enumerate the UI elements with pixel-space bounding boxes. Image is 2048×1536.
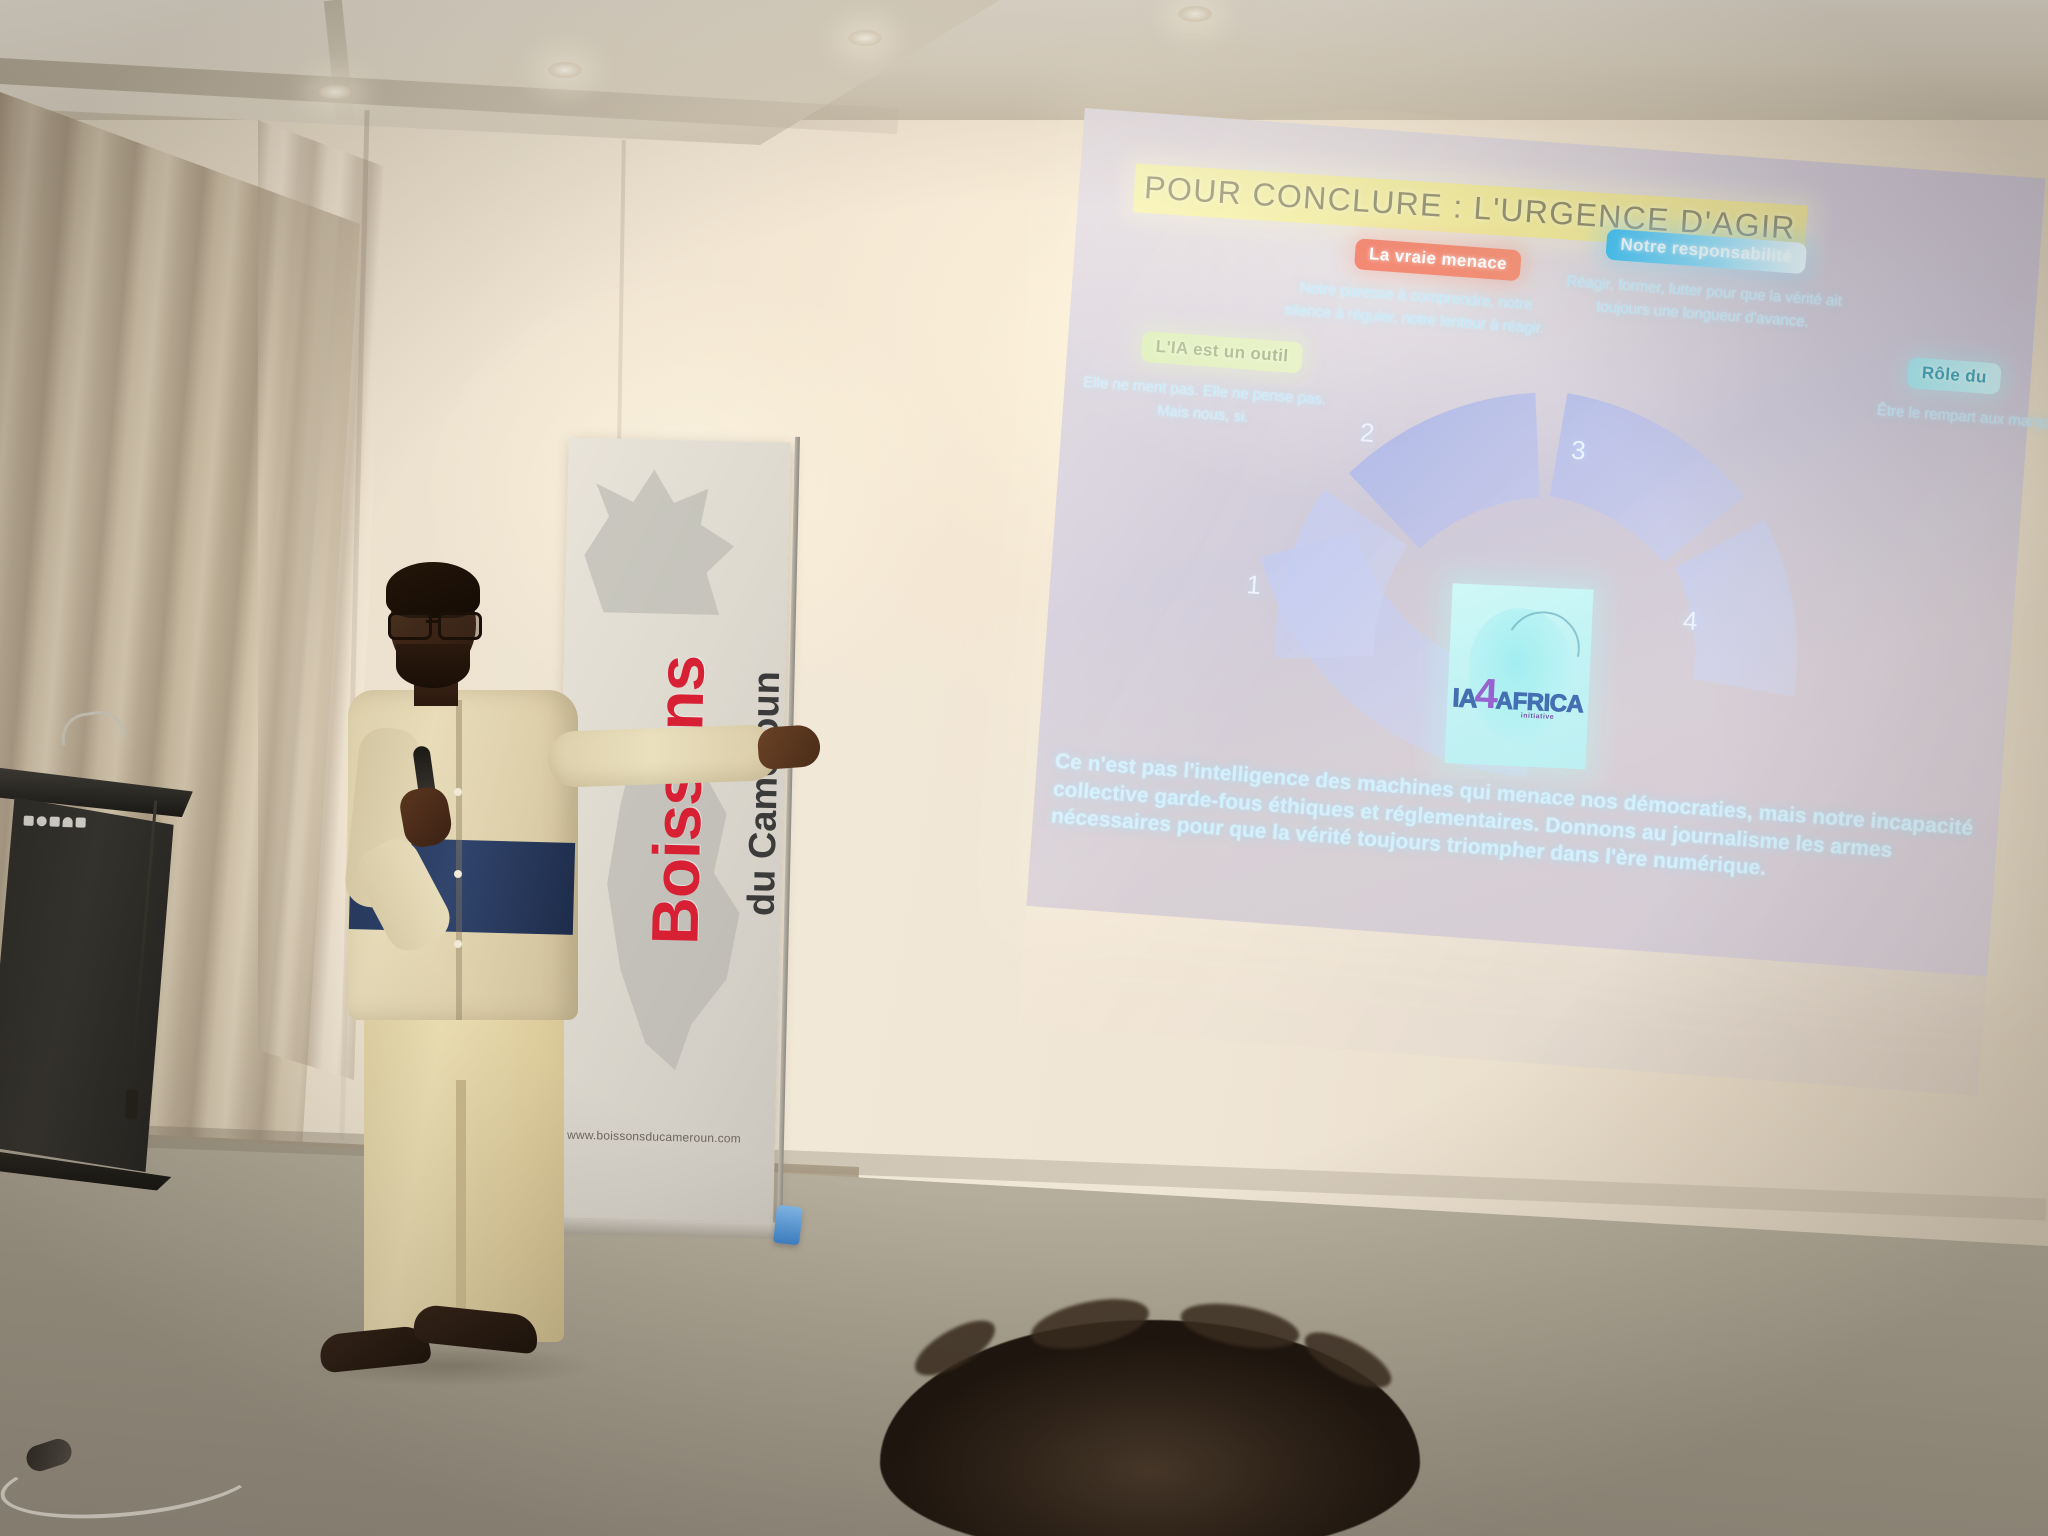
presentation-photo-scene: POUR CONCLURE : L'URGENCE D'AGIR La vrai…	[0, 0, 2048, 1536]
screen-light-tint	[1018, 108, 2046, 1096]
lectern	[0, 767, 197, 1204]
presenter-hand-right	[757, 724, 822, 770]
presenter-beard	[396, 644, 470, 688]
presenter-glasses-icon	[386, 612, 482, 634]
presenter-arm-right	[547, 724, 779, 788]
shirt-button	[454, 940, 462, 948]
presenter-shirt-placket	[456, 700, 462, 1020]
lectern-logo-icon	[23, 814, 97, 830]
lectern-body	[0, 797, 174, 1173]
shirt-button	[454, 870, 462, 878]
microphone-pack	[125, 1089, 138, 1119]
shirt-button	[454, 788, 462, 796]
presenter-hair	[386, 562, 480, 618]
ceiling-downlight	[318, 84, 352, 100]
water-bottle	[773, 1205, 803, 1246]
ceiling-downlight	[848, 30, 882, 46]
audience-member-head	[880, 1320, 1420, 1536]
presenter	[330, 540, 760, 1350]
projection-screen: POUR CONCLURE : L'URGENCE D'AGIR La vrai…	[1018, 108, 2046, 1096]
ceiling-downlight	[548, 62, 582, 78]
presenter-leg-seam	[456, 1080, 466, 1330]
ceiling-downlight	[1178, 6, 1212, 22]
